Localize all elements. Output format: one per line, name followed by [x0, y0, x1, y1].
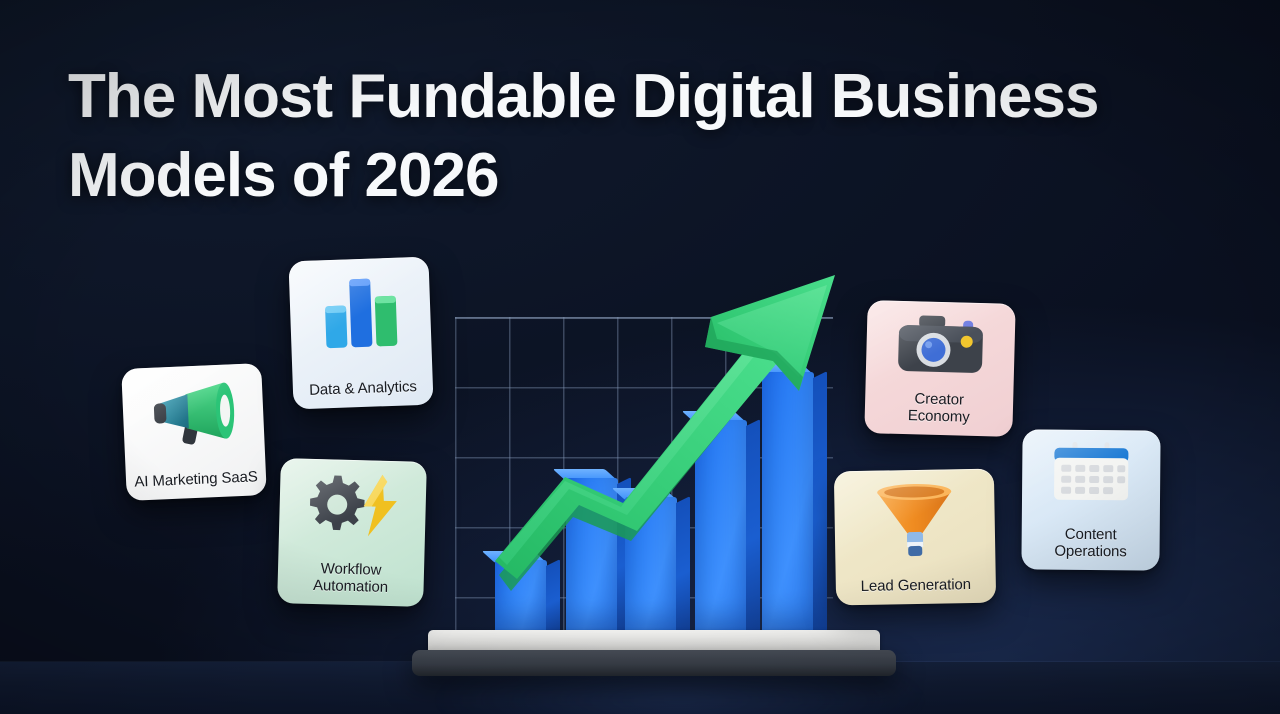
growth-arrow-icon — [455, 265, 865, 595]
card-workflow-automation[interactable]: Workflow Automation — [277, 458, 427, 607]
card-ai-marketing[interactable]: AI Marketing SaaS — [121, 363, 267, 501]
card-lead-generation[interactable]: Lead Generation — [834, 469, 996, 606]
card-label: Creator Economy — [908, 390, 971, 426]
camera-icon — [892, 313, 990, 377]
card-data-analytics[interactable]: Data & Analytics — [288, 257, 433, 410]
scene-backdrop: The Most Fundable Digital Business Model… — [0, 0, 1280, 714]
card-label: Workflow Automation — [313, 560, 389, 596]
card-label: Lead Generation — [861, 576, 972, 595]
gear-bolt-icon — [300, 471, 406, 540]
card-label: AI Marketing SaaS — [134, 468, 258, 491]
bar-chart-3d — [0, 0, 1280, 714]
bar-chart-icon — [316, 270, 405, 351]
card-creator-economy[interactable]: Creator Economy — [864, 300, 1015, 437]
card-label: Content Operations — [1054, 525, 1127, 560]
calendar-icon — [1048, 442, 1135, 505]
card-label: Data & Analytics — [309, 378, 417, 399]
chart-plinth — [412, 650, 896, 676]
funnel-icon — [871, 481, 958, 560]
megaphone-icon — [145, 376, 242, 454]
card-content-operations[interactable]: Content Operations — [1021, 429, 1160, 570]
